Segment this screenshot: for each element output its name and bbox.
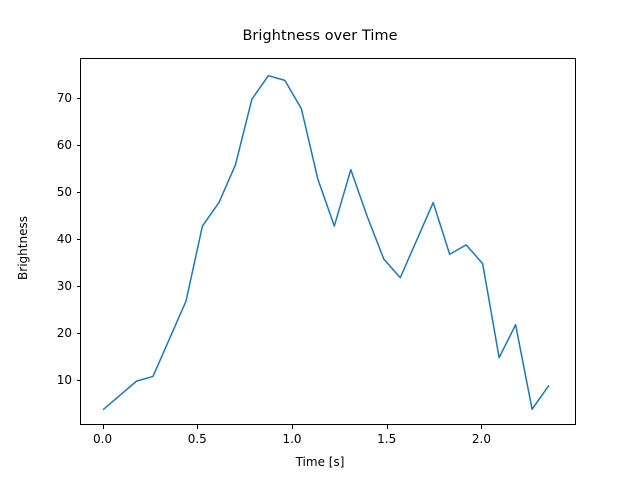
y-tick-label: 70 bbox=[30, 91, 72, 105]
brightness-line-series bbox=[104, 76, 549, 410]
plot-axes-area bbox=[80, 58, 576, 425]
x-tick-label: 1.5 bbox=[377, 432, 396, 446]
y-axis-label: Brightness bbox=[16, 168, 30, 328]
matplotlib-figure: Brightness over Time Brightness Time [s]… bbox=[0, 0, 640, 480]
y-tick-label: 50 bbox=[30, 185, 72, 199]
x-tick-label: 2.0 bbox=[472, 432, 491, 446]
y-tick-label: 30 bbox=[30, 279, 72, 293]
x-axis-label: Time [s] bbox=[0, 455, 640, 469]
x-tick-label: 0.5 bbox=[188, 432, 207, 446]
x-tick-label: 1.0 bbox=[282, 432, 301, 446]
y-tick-label: 10 bbox=[30, 373, 72, 387]
y-tick-label: 60 bbox=[30, 138, 72, 152]
x-tick-label: 0.0 bbox=[93, 432, 112, 446]
chart-title: Brightness over Time bbox=[0, 28, 640, 44]
y-tick-label: 40 bbox=[30, 232, 72, 246]
line-plot bbox=[81, 59, 577, 426]
y-tick-label: 20 bbox=[30, 326, 72, 340]
